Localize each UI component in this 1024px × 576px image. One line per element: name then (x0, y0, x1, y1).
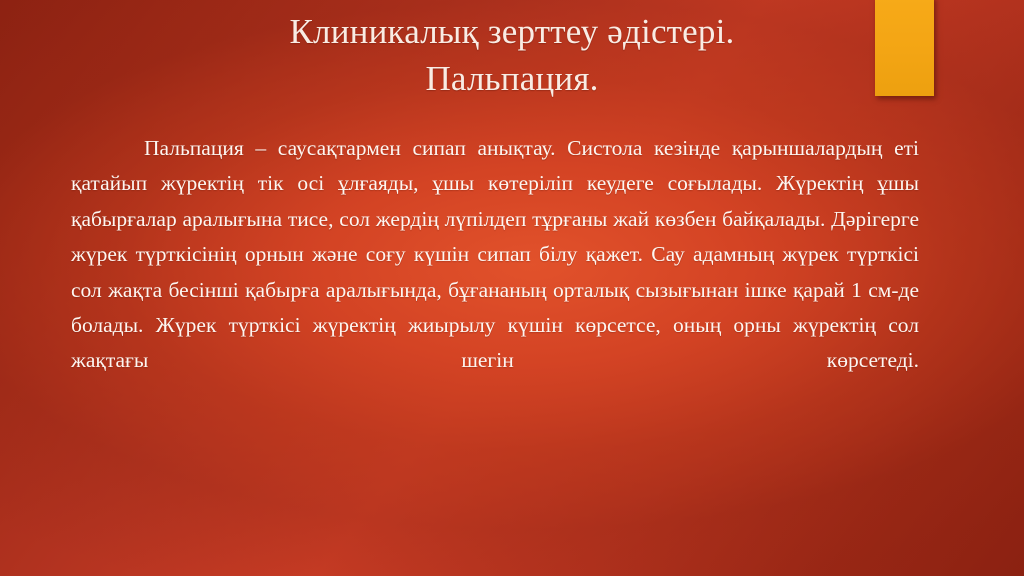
slide-body: Пальпация – саусақтармен сипап анықтау. … (71, 131, 919, 414)
slide-title-line-1: Клиникалық зерттеу әдістері. (96, 8, 928, 55)
slide-title: Клиникалық зерттеу әдістері. Пальпация. (0, 8, 1024, 102)
slide-title-line-2: Пальпация. (96, 55, 928, 102)
body-paragraph: Пальпация – саусақтармен сипап анықтау. … (71, 131, 919, 414)
presentation-slide: Клиникалық зерттеу әдістері. Пальпация. … (0, 0, 1024, 576)
